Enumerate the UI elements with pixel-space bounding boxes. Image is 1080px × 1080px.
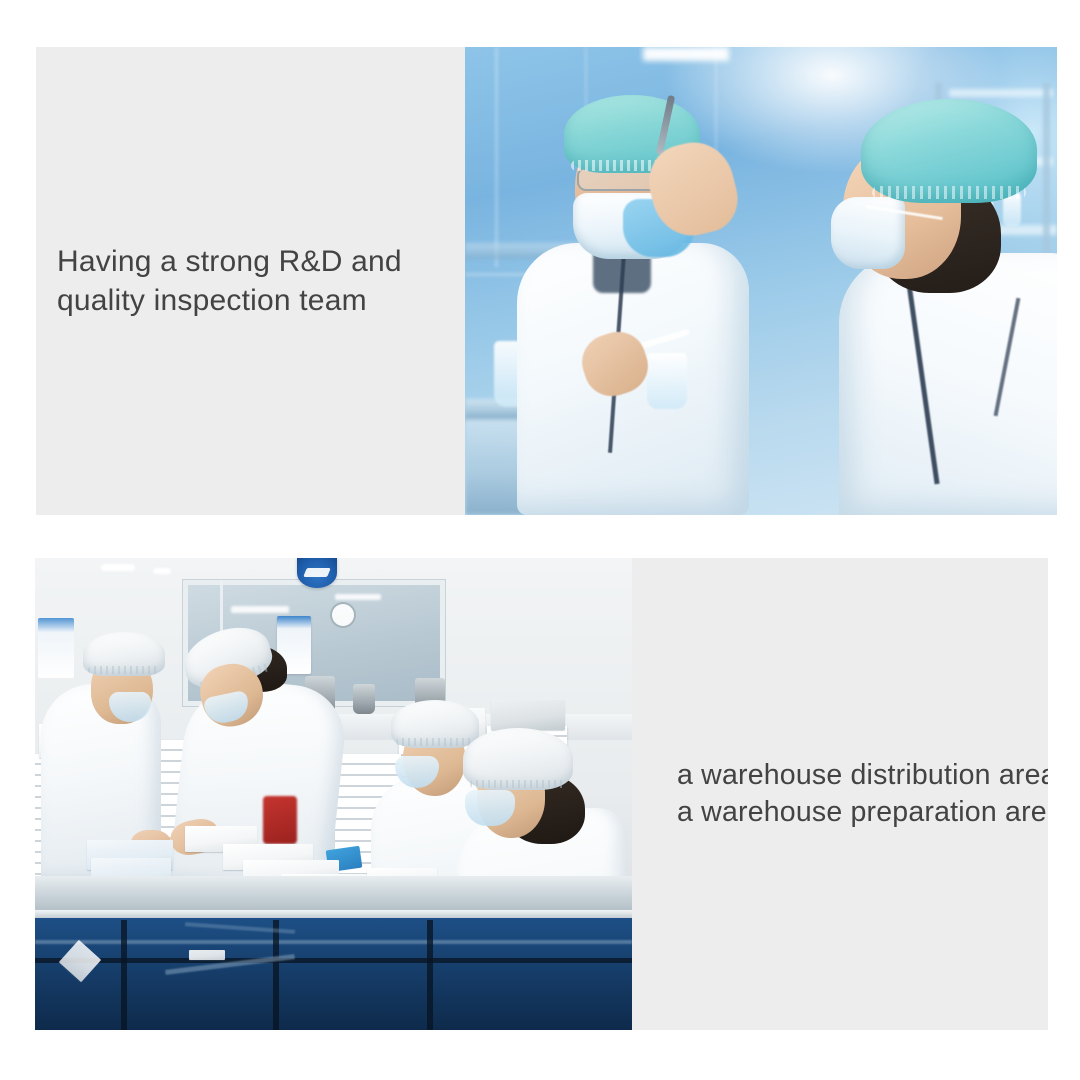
glassware <box>647 353 687 409</box>
rnd-quality-caption: Having a strong R&D and quality inspecti… <box>36 47 465 515</box>
carton <box>491 700 565 730</box>
blue-circular-sign <box>297 558 337 588</box>
wall-seam <box>495 47 498 267</box>
ceiling-light <box>643 47 729 61</box>
warehouse-caption: a warehouse distribution area a warehous… <box>632 558 1048 1030</box>
table-leg <box>121 920 127 1030</box>
wall-notice-board <box>38 618 74 678</box>
caption-line: quality inspection team <box>57 281 367 320</box>
caption-line: a warehouse preparation area <box>677 794 1048 831</box>
ceiling-light <box>101 564 135 571</box>
warehouse-panel: a warehouse distribution area a warehous… <box>35 558 1048 1030</box>
hair-net-cap <box>463 728 573 790</box>
carton-under-table <box>189 950 225 960</box>
ceiling-light <box>231 606 289 613</box>
warehouse-packing-photo <box>35 558 632 1030</box>
table-leg <box>427 920 433 1030</box>
hair-net-cap <box>391 700 479 748</box>
steel-container <box>353 684 375 714</box>
table-leg <box>273 920 279 1030</box>
caption-line: Having a strong R&D and <box>57 242 402 281</box>
hair-net-cap <box>83 632 165 676</box>
shelf-board <box>949 89 1053 97</box>
ceiling-light <box>335 594 381 600</box>
rnd-quality-panel: Having a strong R&D and quality inspecti… <box>36 47 1057 515</box>
laboratory-inspection-photo <box>465 47 1057 515</box>
caption-line: a warehouse distribution area <box>677 757 1048 794</box>
ceiling-light <box>153 568 171 574</box>
hair-net-cap <box>861 99 1037 203</box>
wall-clock <box>330 602 356 628</box>
red-object <box>263 796 297 844</box>
